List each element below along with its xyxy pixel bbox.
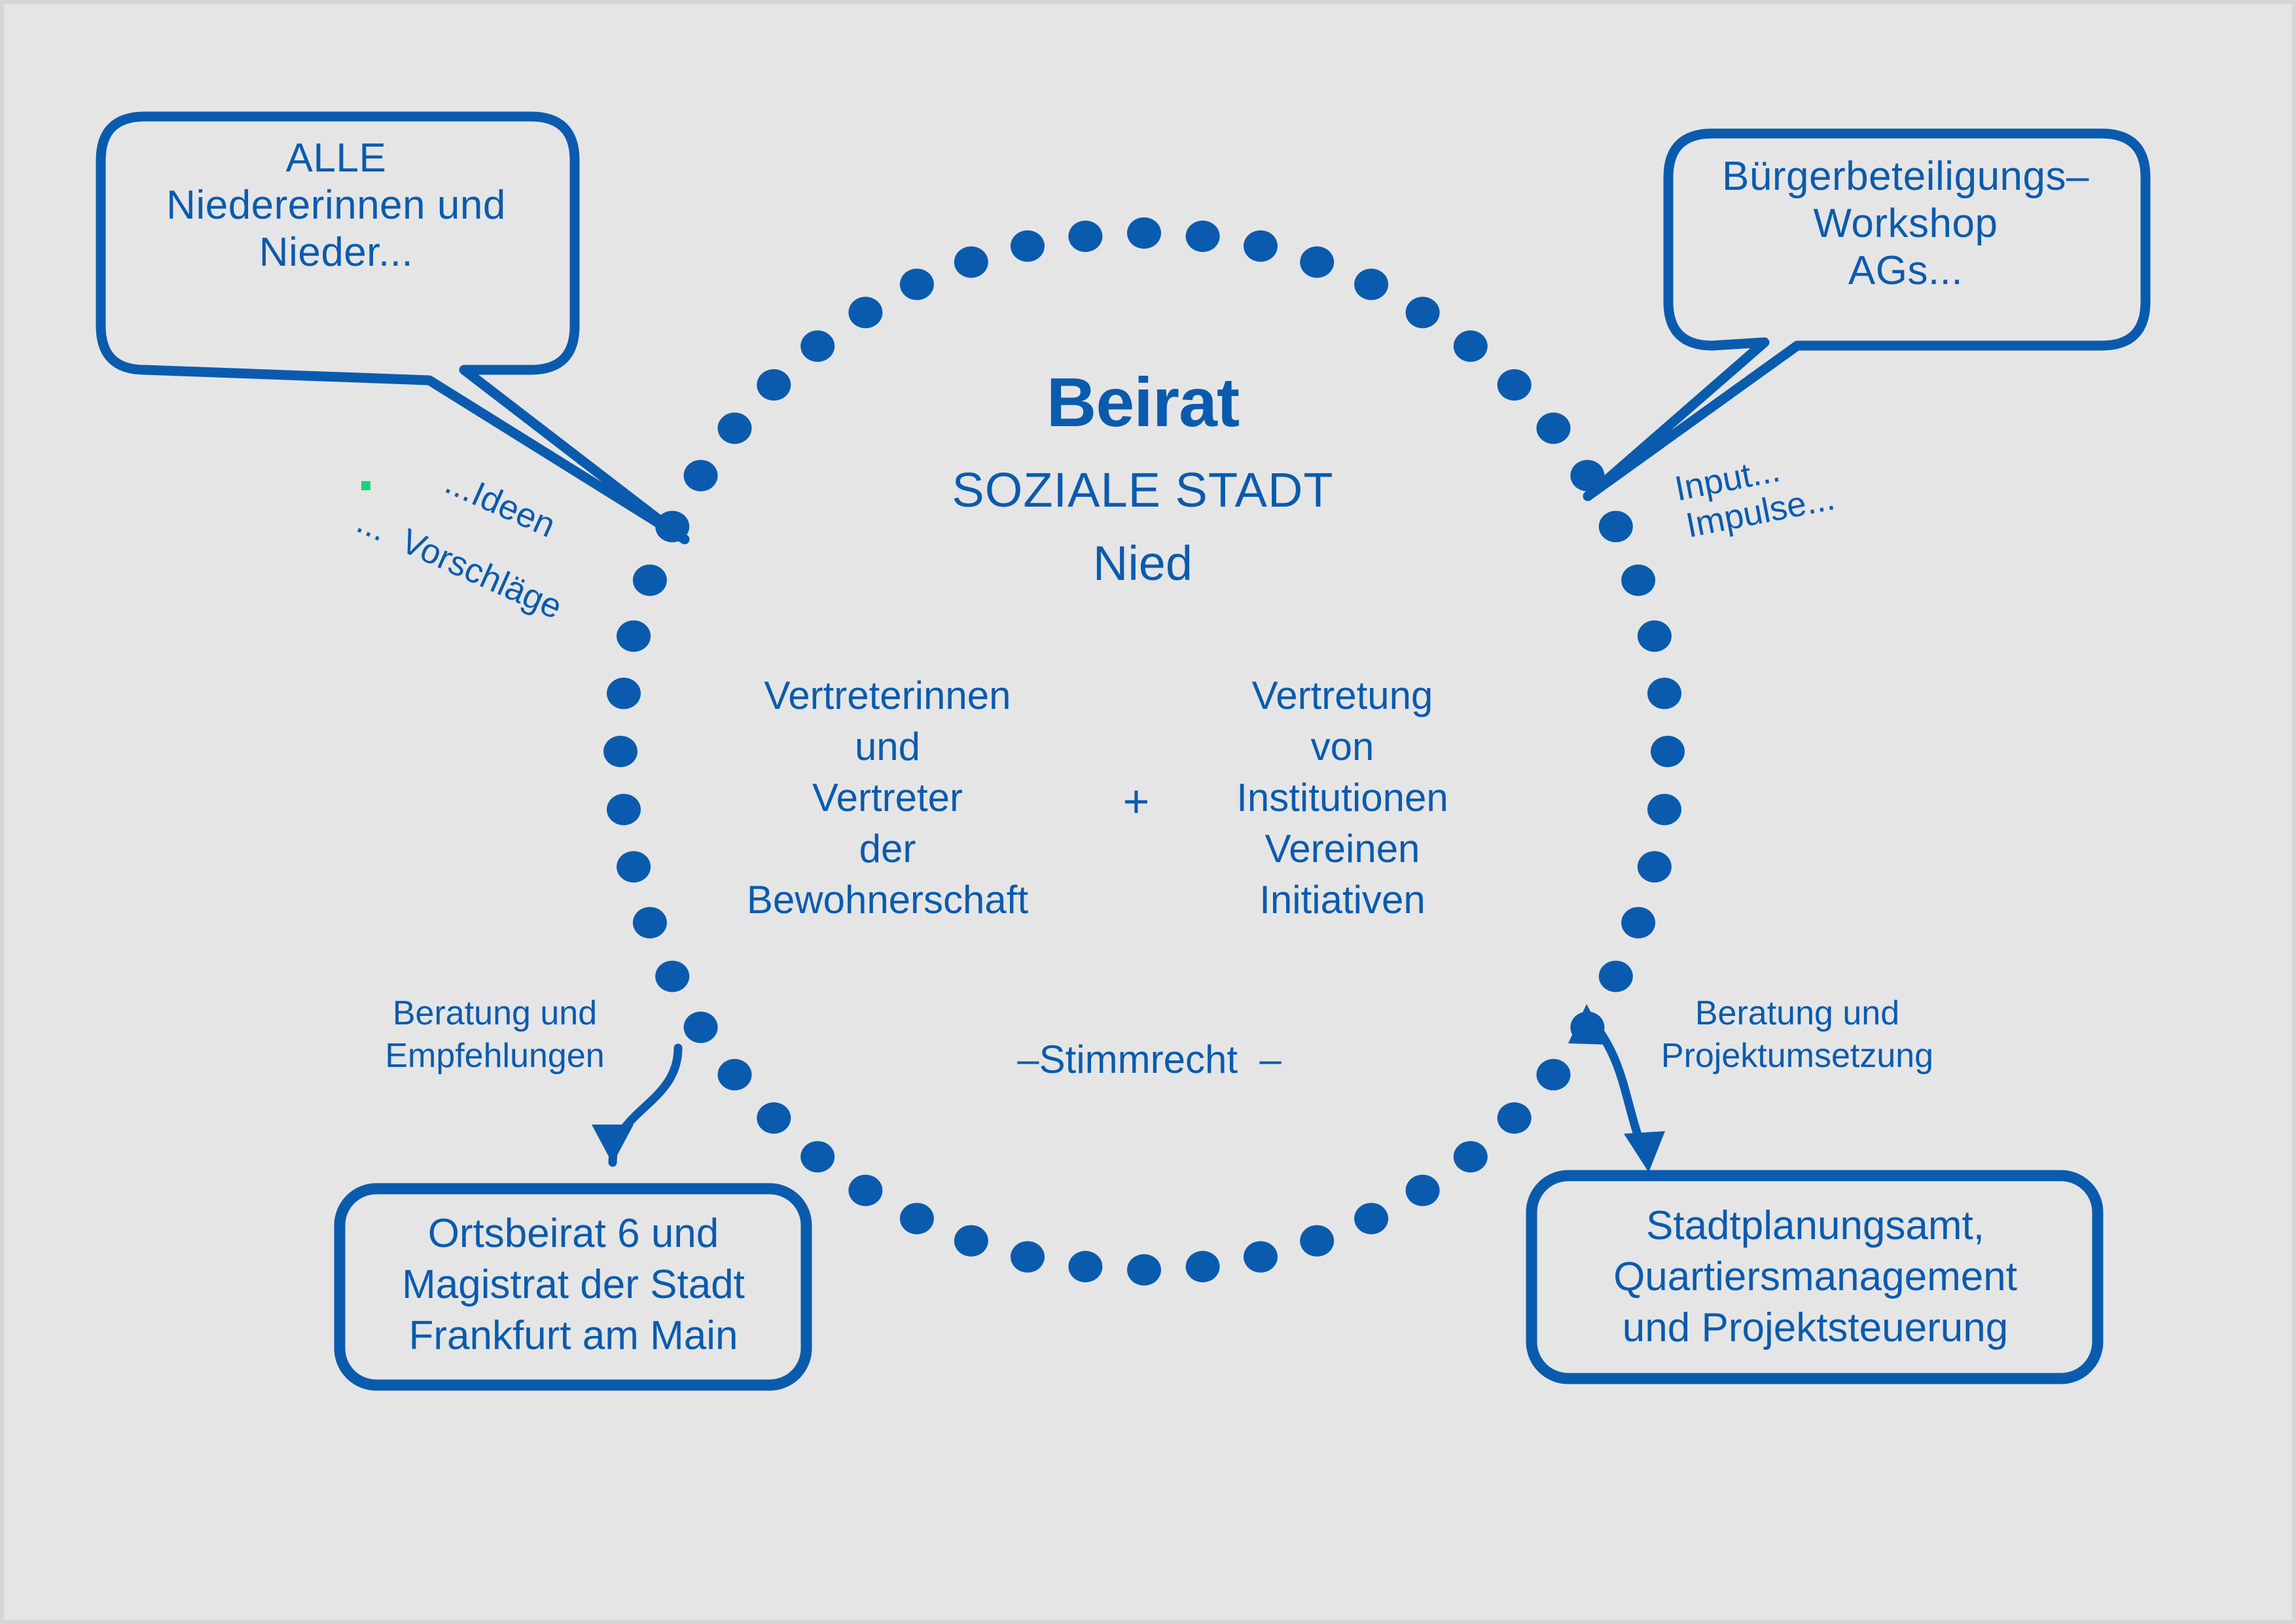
- circle-dot: [617, 621, 651, 652]
- circle-dot: [1621, 564, 1655, 596]
- circle-dot: [1244, 230, 1278, 262]
- circle-dot: [1537, 1059, 1571, 1091]
- box-ortsbeirat-label: Ortsbeirat 6 und Magistrat der Stadt Fra…: [344, 1208, 802, 1362]
- circle-dot: [1300, 246, 1334, 278]
- circle-dot: [607, 677, 641, 709]
- circle-dot: [1011, 230, 1045, 262]
- bubble-left-label: ALLE Niedererinnen und Nieder...: [102, 135, 570, 276]
- circle-dot: [900, 1203, 934, 1235]
- circle-dot: [603, 736, 637, 767]
- circle-dot: [1599, 511, 1633, 542]
- circle-dot: [954, 1225, 988, 1257]
- bubble-right-label: Bürgerbeteiligungs– Workshop AGs...: [1672, 153, 2140, 295]
- circle-dot: [848, 1175, 882, 1206]
- circle-dot: [1068, 1251, 1102, 1282]
- circle-dot: [1638, 851, 1672, 882]
- circle-dot: [1406, 297, 1440, 328]
- circle-dot: [1537, 412, 1571, 444]
- stimmrecht-note: –Stimmrecht –: [946, 1037, 1352, 1083]
- circle-dot: [684, 460, 718, 492]
- circle-dot: [617, 851, 651, 882]
- circle-dot: [1127, 217, 1161, 249]
- circle-dot: [1651, 736, 1685, 767]
- circle-dot: [1354, 268, 1388, 300]
- diagram-canvas: ALLE Niedererinnen und Nieder... Bürgerb…: [0, 0, 2296, 1624]
- circle-dot: [607, 794, 641, 825]
- circle-dot: [684, 1011, 718, 1043]
- circle-dot: [1599, 961, 1633, 992]
- label-beratung-empfehlungen: Beratung und Empfehlungen: [357, 992, 632, 1077]
- plus-operator: +: [1084, 775, 1189, 828]
- label-beratung-projektumsetzung: Beratung und Projektumsetzung: [1643, 992, 1951, 1077]
- circle-dot: [1647, 677, 1681, 709]
- circle-dot: [800, 331, 834, 362]
- column-bewohnerschaft: Vertreterinnen und Vertreter der Bewohne…: [711, 670, 1064, 926]
- circle-dot: [757, 1102, 791, 1134]
- page-title: Beirat: [776, 363, 1509, 443]
- circle-dot: [848, 297, 882, 328]
- circle-dot: [1638, 621, 1672, 652]
- circle-dot: [633, 907, 667, 939]
- circle-dot: [1011, 1241, 1045, 1272]
- circle-dot: [1454, 1141, 1488, 1172]
- circle-dot: [1498, 1102, 1532, 1134]
- circle-dot: [633, 564, 667, 596]
- circle-dot: [718, 1059, 752, 1091]
- circle-dot: [1647, 794, 1681, 825]
- circle-dot: [1354, 1203, 1388, 1235]
- circle-dot: [1406, 1175, 1440, 1206]
- column-institutionen: Vertretung von Institutionen Vereinen In…: [1202, 670, 1483, 926]
- circle-dot: [1621, 907, 1655, 939]
- green-marker-dot: [361, 481, 370, 490]
- circle-dot: [954, 246, 988, 278]
- circle-dot: [1244, 1241, 1278, 1272]
- circle-dot: [900, 268, 934, 300]
- circle-dot: [800, 1141, 834, 1172]
- circle-dot: [655, 961, 689, 992]
- circle-dot: [1127, 1254, 1161, 1286]
- box-stadtplanungsamt-label: Stadtplanungsamt, Quartiersmanagement un…: [1535, 1200, 2095, 1354]
- circle-dot: [1068, 221, 1102, 252]
- circle-dot: [718, 412, 752, 444]
- circle-dot: [1186, 221, 1220, 252]
- circle-dot: [1186, 1251, 1220, 1282]
- circle-dot: [1454, 331, 1488, 362]
- circle-dot: [1300, 1225, 1334, 1257]
- subtitle-nied: Nied: [776, 535, 1509, 592]
- subtitle-soziale-stadt: SOZIALE STADT: [776, 462, 1509, 518]
